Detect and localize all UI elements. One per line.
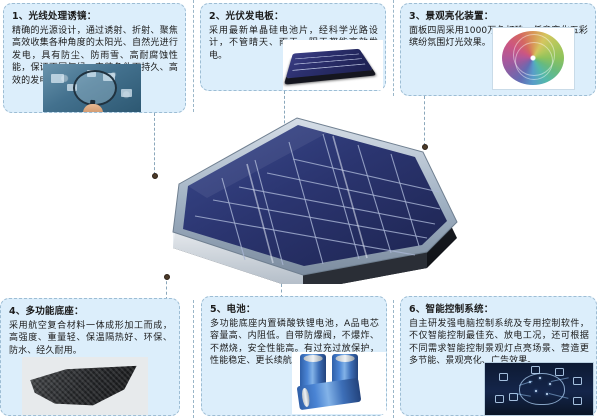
- feature-title-6: 6、智能控制系统：: [409, 303, 589, 316]
- feature-title-2: 2、光伏发电板：: [209, 10, 378, 23]
- wheel-petal-2: [515, 42, 553, 80]
- lithium-battery-cells-image: [292, 352, 386, 414]
- divider-top-right: [393, 0, 394, 96]
- divider-bottom-right: [393, 300, 394, 418]
- carbon-fiber-base-image: [22, 357, 148, 415]
- iot-icon-cloud: [531, 366, 540, 374]
- iot-icon-car: [509, 393, 518, 401]
- chip-1: [51, 74, 64, 83]
- iot-icon-phone: [495, 395, 504, 403]
- divider-bottom-left: [193, 300, 194, 418]
- battery-terminal-1: [304, 355, 323, 362]
- chip-4: [121, 89, 132, 97]
- divider-top-left: [193, 0, 194, 112]
- iot-icon-building: [573, 397, 582, 405]
- smart-city-iot-network-image: [484, 362, 594, 416]
- carbon-fiber-shell: [28, 365, 140, 407]
- feature-title-4: 4、多功能底座：: [9, 305, 172, 318]
- network-node: [539, 377, 541, 379]
- solar-panel-illustration: [127, 112, 475, 284]
- iot-icon-home: [499, 373, 508, 381]
- network-node: [546, 393, 548, 395]
- feature-title-3: 3、景观亮化装置：: [409, 10, 588, 23]
- solar-cell-face: [286, 49, 374, 79]
- feature-body-4: 采用航空复合材料一体成形加工而成，高强度、重量轻、保温隔热好、环保、防水、经久耐…: [9, 320, 172, 357]
- hexagonal-solar-panel: [127, 112, 475, 284]
- neural-network-outline-icon: [519, 373, 565, 405]
- magnifier-over-tech-background-image: [43, 64, 141, 112]
- battery-terminal-3: [301, 388, 311, 408]
- feature-body-6: 自主研发强电脑控制系统及专用控制软件，不仅智能控制最佳充、放电工况，还可根据不同…: [409, 318, 589, 368]
- rgb-color-wheel-image: [492, 27, 575, 90]
- battery-terminal-2: [336, 355, 355, 362]
- network-node: [549, 383, 551, 385]
- iot-icon-wifi: [555, 368, 564, 376]
- network-node: [535, 390, 537, 392]
- monocrystalline-solar-cell-image: [283, 40, 383, 90]
- busbar-3: [292, 64, 365, 72]
- infographic-canvas: 1、光线处理诱镜： 精确的光源设计，通过诱射、折射、聚焦高效收集各种角度的太阳光…: [0, 0, 600, 418]
- iot-icon-lamp: [573, 377, 582, 385]
- feature-title-1: 1、光线处理诱镜：: [12, 10, 178, 23]
- feature-title-5: 5、电池：: [210, 303, 379, 316]
